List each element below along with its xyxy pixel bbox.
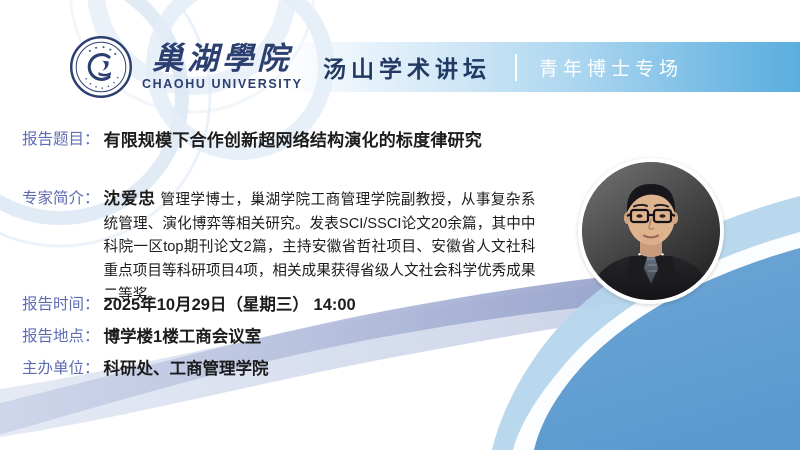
report-title-value: 有限规模下合作创新超网络结构演化的标度律研究 (104, 128, 482, 154)
speaker-portrait-image (582, 162, 720, 300)
speaker-bio-body: 管理学博士，巢湖学院工商管理学院副教授，从事复杂系统管理、演化博弈等相关研究。发… (104, 192, 536, 303)
report-title-label: 报告题目： (22, 128, 100, 152)
speaker-bio-text: 沈爱忠 管理学博士，巢湖学院工商管理学院副教授，从事复杂系统管理、演化博弈等相关… (104, 186, 536, 307)
lecture-poster: 汤山学术讲坛 青年博士专场 (0, 0, 800, 450)
field-host-unit: 主办单位： 科研处、工商管理学院 (22, 357, 269, 383)
host-unit-value: 科研处、工商管理学院 (104, 357, 269, 383)
report-place-label: 报告地点： (22, 325, 100, 349)
field-report-time: 报告时间： 2025年10月29日（星期三） 14:00 (22, 293, 356, 319)
report-place-value: 博学楼1楼工商会议室 (104, 325, 262, 351)
field-speaker-bio: 专家简介： 沈爱忠 管理学博士，巢湖学院工商管理学院副教授，从事复杂系统管理、演… (22, 186, 542, 307)
speaker-name: 沈爱忠 (104, 190, 156, 208)
host-unit-label: 主办单位： (22, 357, 100, 381)
field-report-title: 报告题目： 有限规模下合作创新超网络结构演化的标度律研究 (22, 128, 482, 154)
speaker-bio-label: 专家简介： (22, 186, 100, 211)
field-report-place: 报告地点： 博学楼1楼工商会议室 (22, 325, 261, 351)
report-time-label: 报告时间： (22, 293, 100, 317)
speaker-portrait (578, 158, 724, 304)
report-time-value: 2025年10月29日（星期三） 14:00 (104, 293, 356, 319)
